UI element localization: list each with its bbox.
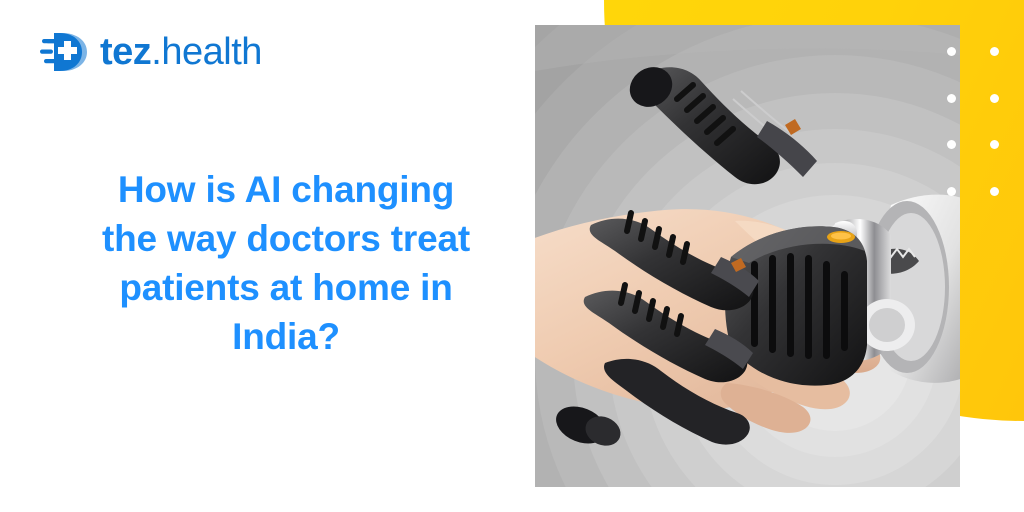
brand-logo[interactable]: tez.health [40, 28, 262, 76]
headline: How is AI changing the way doctors treat… [36, 165, 536, 362]
dot [947, 140, 956, 149]
tez-health-shield-cross-icon [40, 28, 92, 76]
dot [947, 187, 956, 196]
dot [947, 94, 956, 103]
headline-line-2: the way doctors treat [36, 214, 536, 263]
headline-line-3: patients at home in [36, 263, 536, 312]
brand-name-light: .health [151, 31, 262, 73]
headline-line-4: India? [36, 312, 536, 361]
headline-line-1: How is AI changing [36, 165, 536, 214]
marketing-banner: tez.health How is AI changing the way do… [0, 0, 1024, 512]
dot [990, 94, 999, 103]
decorative-dot-grid [947, 47, 1002, 197]
dot [990, 187, 999, 196]
dot [990, 47, 999, 56]
dot [947, 47, 956, 56]
dot [990, 140, 999, 149]
brand-wordmark: tez.health [100, 33, 262, 71]
brand-name-bold: tez [100, 31, 151, 73]
human-robot-handshake-photo [535, 25, 960, 487]
